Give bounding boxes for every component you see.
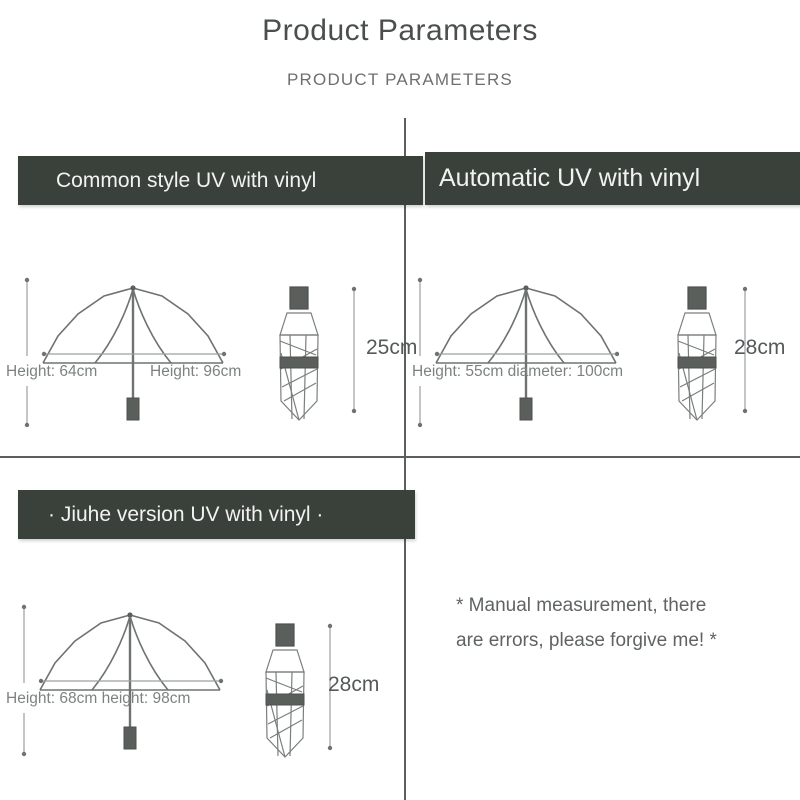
banner-automatic: Automatic UV with vinyl	[425, 152, 800, 205]
note-line-2: are errors, please forgive me! *	[456, 623, 776, 658]
note-line-1: * Manual measurement, there	[456, 588, 776, 623]
dimension-label-height-left: Height: 64cm	[6, 363, 97, 381]
folded-size-label: 28cm	[734, 336, 785, 360]
figure-automatic: Height: 55cm diameter: 100cm 28cm	[404, 258, 800, 458]
infographic-page: Product Parameters PRODUCT PARAMETERS Co…	[0, 0, 800, 800]
banner-jiuhe-version: · Jiuhe version UV with vinyl ·	[18, 490, 415, 539]
folded-size-label: 28cm	[328, 673, 379, 697]
page-title: Product Parameters	[0, 14, 800, 48]
page-subtitle: PRODUCT PARAMETERS	[0, 70, 800, 90]
figure-jiuhe-version: Height: 68cm height: 98cm 28cm	[0, 585, 404, 785]
banner-label: Common style UV with vinyl	[56, 169, 316, 193]
banner-common-style: Common style UV with vinyl	[18, 156, 423, 205]
measurement-note: * Manual measurement, there are errors, …	[456, 588, 776, 658]
figure-common-style: Height: 64cm Height: 96cm	[0, 258, 404, 458]
dimension-label-height-right: Height: 96cm	[150, 363, 241, 381]
dimension-label-height-diameter: Height: 55cm diameter: 100cm	[412, 363, 623, 381]
dimension-label-heights: Height: 68cm height: 98cm	[6, 690, 190, 708]
banner-label: · Jiuhe version UV with vinyl ·	[48, 503, 323, 527]
banner-label: Automatic UV with vinyl	[439, 164, 700, 193]
divider-vertical	[404, 118, 406, 800]
